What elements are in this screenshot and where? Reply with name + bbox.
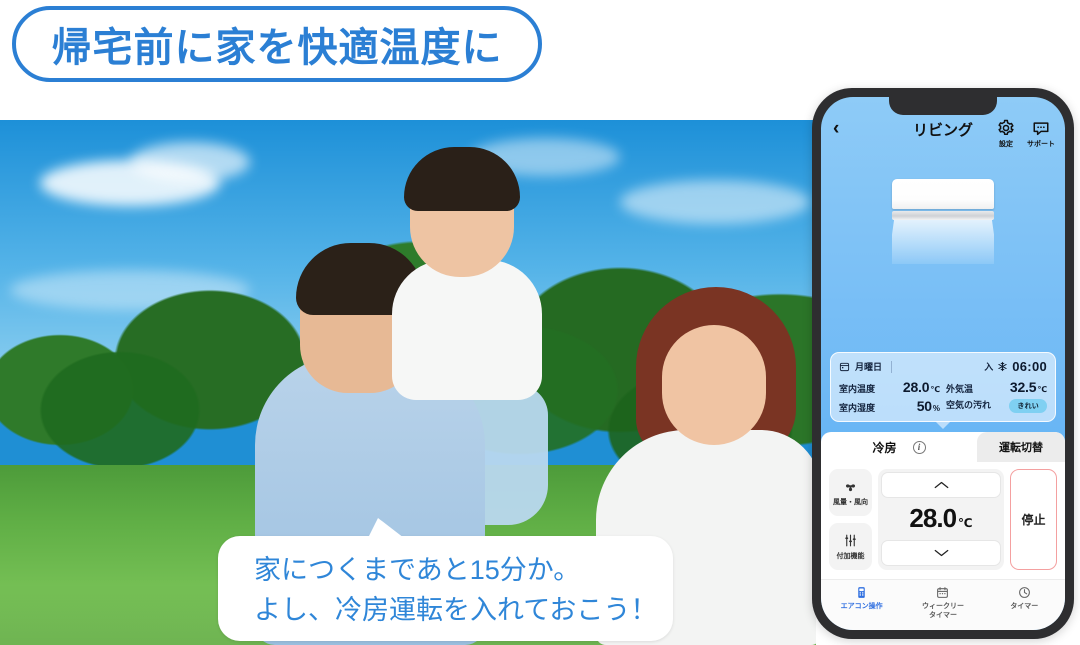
ac-louver [892, 211, 994, 220]
mother-face [662, 325, 766, 445]
cloud [130, 142, 250, 182]
stat-unit: ℃ [930, 385, 940, 394]
nav-item-weekly-timer-label: ウィークリータイマー [922, 602, 964, 620]
header-actions: 設定 サポート [997, 119, 1055, 149]
phone-screen: ‹ リビング 設定 [821, 97, 1065, 630]
stat-key: 空気の汚れ [946, 398, 991, 411]
stat-unit: % [933, 404, 940, 413]
remote-icon [855, 586, 868, 599]
stat-key: 室内温度 [839, 382, 875, 395]
status-info-card: 月曜日 入 06:00 [830, 352, 1056, 422]
schedule-row: 月曜日 入 06:00 [839, 359, 1047, 379]
sliders-icon [843, 533, 858, 548]
air-conditioner-illustration [892, 179, 994, 264]
speech-bubble: 家につくまであと15分か。 よし、冷房運転を入れておこう！ [218, 536, 673, 641]
phone-notch [889, 97, 997, 115]
stat-air-quality: 空気の汚れ きれい [946, 398, 1047, 414]
tab-cooling[interactable]: 冷房 i [821, 432, 977, 462]
settings-label: 設定 [999, 139, 1013, 149]
stat-outdoor-temp: 外気温 32.5 ℃ [946, 379, 1047, 395]
page-root: 帰宅前に家を快適温度に 家につくまであと15分か。 よし、冷房運転を入れておこう… [0, 0, 1080, 645]
chat-bubble-icon [1032, 119, 1050, 137]
stat-indoor-temp: 室内温度 28.0 ℃ [839, 379, 940, 395]
temperature-down-button[interactable] [881, 540, 1001, 566]
control-panel: 冷房 i 運転切替 [821, 432, 1065, 579]
chevron-down-icon [934, 549, 949, 557]
fan-settings-label: 風量・風向 [833, 497, 868, 507]
stat-key: 室内湿度 [839, 401, 875, 414]
child-body [392, 260, 542, 400]
temperature-stepper: 28.0 ℃ [878, 469, 1004, 570]
nav-item-weekly-timer[interactable]: ウィークリータイマー [902, 586, 983, 620]
clock-icon [1018, 586, 1031, 599]
nav-item-timer-label: タイマー [1010, 602, 1038, 611]
temperature-up-button[interactable] [881, 472, 1001, 498]
stop-button-label: 停止 [1021, 511, 1045, 528]
stat-value: 28.0 [903, 379, 929, 395]
airflow-graphic [892, 220, 994, 264]
schedule-time: 06:00 [1012, 359, 1047, 374]
stat-value: 50 [917, 398, 932, 414]
fan-icon [843, 479, 858, 494]
schedule-value: 入 06:00 [984, 359, 1047, 374]
chevron-up-icon [934, 481, 949, 489]
calendar-week-icon [936, 586, 949, 599]
nav-item-timer[interactable]: タイマー [984, 586, 1065, 620]
headline-pill: 帰宅前に家を快適温度に [12, 6, 542, 82]
stat-value: 32.5 [1010, 379, 1036, 395]
snowflake-icon [997, 361, 1008, 372]
temperature-value: 28.0 [909, 503, 956, 534]
support-label: サポート [1027, 139, 1055, 149]
page-title: 帰宅前に家を快適温度に [52, 15, 503, 73]
divider [891, 361, 892, 373]
day-label: 月曜日 [855, 360, 882, 373]
controls-row: 風量・風向 [821, 462, 1065, 579]
phone-mockup: ‹ リビング 設定 [812, 88, 1074, 639]
nav-item-aircon-label: エアコン操作 [841, 602, 883, 611]
extra-functions-label: 付加機能 [837, 551, 865, 561]
speech-bubble-line-2: よし、冷房運転を入れておこう！ [254, 590, 653, 630]
ac-body [892, 179, 994, 209]
stat-indoor-humidity: 室内湿度 50 % [839, 398, 940, 414]
nav-item-aircon[interactable]: エアコン操作 [821, 586, 902, 620]
back-button[interactable]: ‹ [833, 119, 839, 138]
status-grid: 室内温度 28.0 ℃ 外気温 32.5 ℃ 室内湿度 50 % [839, 379, 1047, 414]
temperature-unit: ℃ [958, 516, 973, 530]
side-buttons: 風量・風向 [829, 469, 872, 570]
support-button[interactable]: サポート [1027, 119, 1055, 149]
status-badge: きれい [1009, 399, 1047, 413]
calendar-icon [839, 361, 850, 372]
tab-mode-switch-label: 運転切替 [999, 439, 1043, 455]
settings-button[interactable]: 設定 [997, 119, 1015, 149]
stat-key: 外気温 [946, 382, 973, 395]
tab-cooling-label: 冷房 [872, 439, 896, 456]
tab-mode-switch[interactable]: 運転切替 [977, 432, 1065, 462]
temperature-readout: 28.0 ℃ [881, 501, 1001, 537]
ac-illustration-stage [821, 155, 1065, 352]
stop-button[interactable]: 停止 [1010, 469, 1057, 570]
stat-unit: ℃ [1037, 385, 1047, 394]
fan-settings-button[interactable]: 風量・風向 [829, 469, 872, 516]
info-icon[interactable]: i [913, 441, 926, 454]
speech-bubble-line-1: 家につくまであと15分か。 [254, 550, 653, 590]
extra-functions-button[interactable]: 付加機能 [829, 523, 872, 570]
schedule-state: 入 [984, 360, 993, 373]
gear-icon [997, 119, 1015, 137]
bottom-navigation: エアコン操作 ウィークリータイマー [821, 579, 1065, 630]
mode-tabs: 冷房 i 運転切替 [821, 432, 1065, 462]
cloud [620, 180, 810, 224]
